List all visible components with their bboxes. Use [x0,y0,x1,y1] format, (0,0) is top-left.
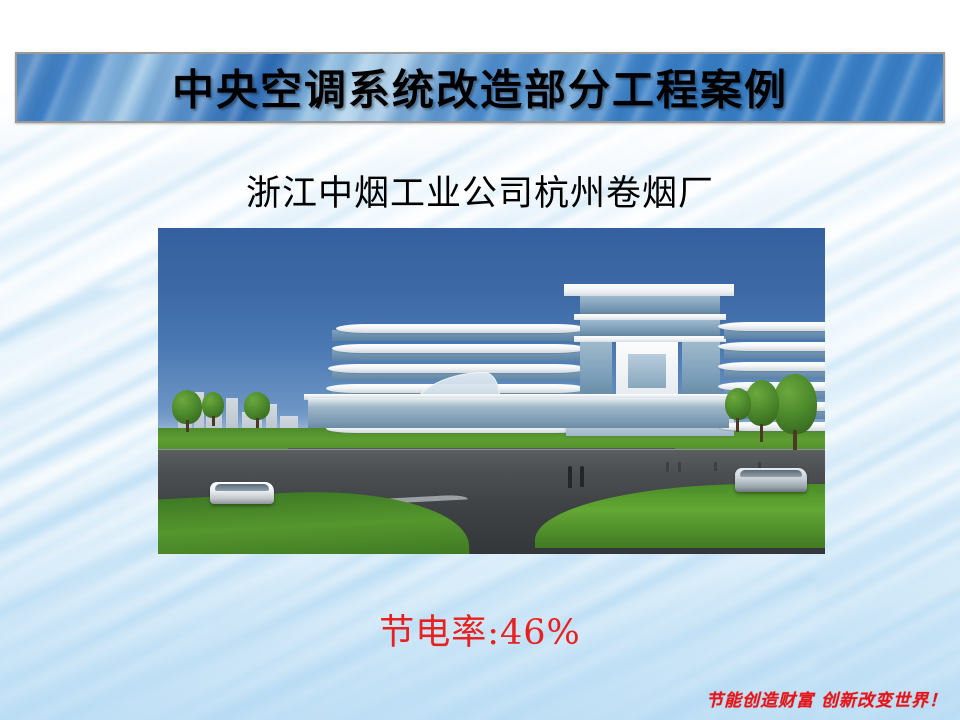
footer-slogan: 节能创造财富 创新改变世界！ [706,686,947,711]
subtitle-company-name: 浙江中烟工业公司杭州卷烟厂 [0,165,960,216]
photo-silver-car-windshield [740,470,802,477]
power-saving-rate: 节电率:46% [0,604,960,655]
slide-root: 中央空调系统改造部分工程案例 浙江中烟工业公司杭州卷烟厂 [0,0,960,720]
page-title: 中央空调系统改造部分工程案例 [17,56,943,117]
project-photo [158,228,825,554]
photo-silver-car [735,468,807,492]
photo-podium-glass [308,398,729,428]
photo-white-car-windshield [215,484,269,491]
photo-white-car [210,482,274,504]
title-banner: 中央空调系统改造部分工程案例 [15,52,945,123]
